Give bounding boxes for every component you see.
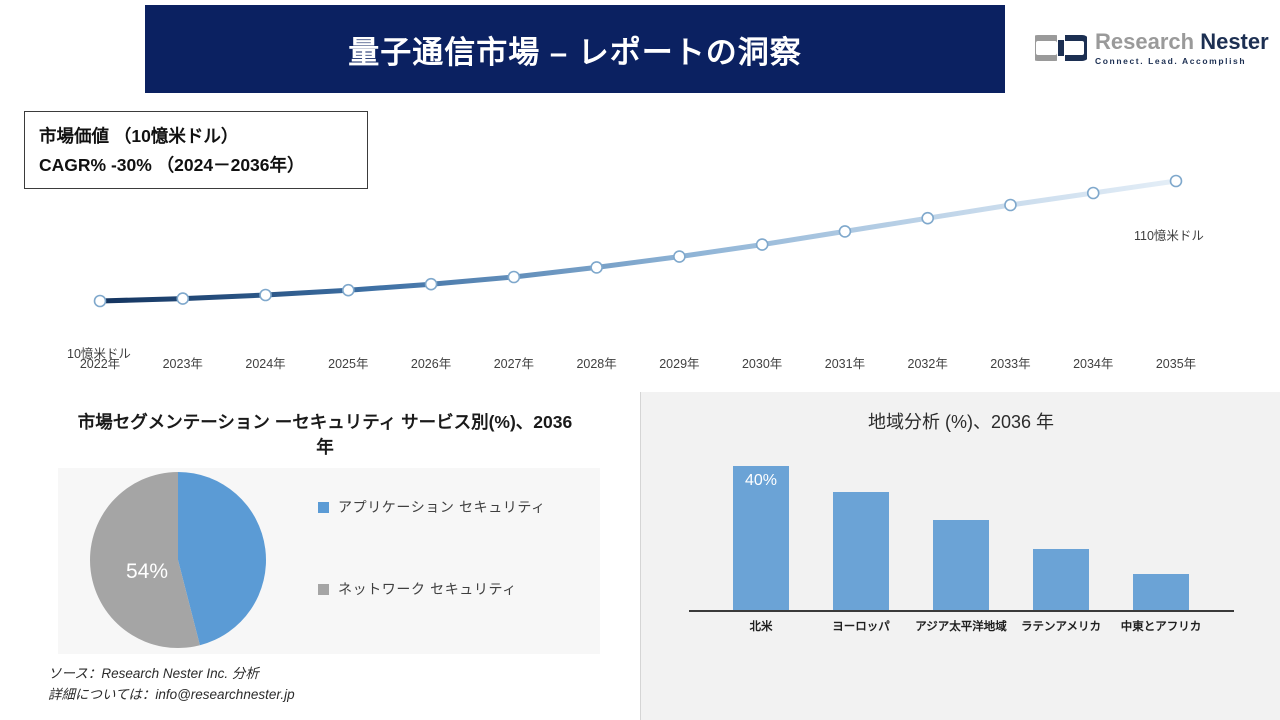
- x-axis-tick-2035年: 2035年: [1156, 353, 1196, 372]
- line-marker: [674, 251, 685, 262]
- logo-name: Research Nester: [1095, 31, 1269, 53]
- bar-category-中東とアフリカ: 中東とアフリカ: [1121, 618, 1202, 634]
- x-axis-tick-2024年: 2024年: [245, 353, 285, 372]
- x-axis-tick-2025年: 2025年: [328, 353, 368, 372]
- bar-category-アジア太平洋地域: アジア太平洋地域: [915, 618, 1007, 634]
- line-marker: [508, 272, 519, 283]
- interlocking-links-icon: [1035, 31, 1087, 65]
- line-marker: [260, 290, 271, 301]
- line-chart-x-axis: 2022年2023年2024年2025年2026年2027年2028年2029年…: [0, 353, 1280, 379]
- x-axis-tick-2026年: 2026年: [411, 353, 451, 372]
- market-value-info-box: 市場価値 （10憶米ドル） CAGR% -30% （2024－2036年）: [24, 111, 368, 189]
- line-marker: [757, 239, 768, 250]
- x-axis-tick-2033年: 2033年: [990, 353, 1030, 372]
- legend-item-application-security: アプリケーション セキュリティ: [318, 497, 546, 517]
- pie-legend: アプリケーション セキュリティ ネットワーク セキュリティ: [318, 497, 546, 599]
- logo-wordmark: Research Nester Connect. Lead. Accomplis…: [1095, 31, 1269, 66]
- bar-value-label: 40%: [745, 472, 777, 490]
- legend-label-application-security: アプリケーション セキュリティ: [338, 497, 546, 517]
- pie-chart-title: 市場セグメンテーション ーセキュリティ サービス別(%)、2036年: [70, 410, 580, 461]
- source-line-2: 詳細については：info@researchnester.jp: [48, 685, 295, 706]
- bar-chart-plot: 40%: [711, 452, 1211, 610]
- line-marker: [1088, 188, 1099, 199]
- logo-name-research: Research: [1095, 29, 1194, 54]
- pie-slice-label-network: 54%: [126, 560, 168, 584]
- page-header: 量子通信市場 – レポートの洞察 Research Nester Connect…: [0, 0, 1280, 95]
- bar-category-ヨーロッパ: ヨーロッパ: [832, 618, 890, 634]
- x-axis-tick-2032年: 2032年: [908, 353, 948, 372]
- regional-analysis-bar-panel: 地域分析 (%)、2036 年 40% 北米ヨーロッパアジア太平洋地域ラテンアメ…: [640, 392, 1280, 720]
- bar-ラテンアメリカ: [1033, 549, 1089, 610]
- brand-logo: Research Nester Connect. Lead. Accomplis…: [1035, 22, 1260, 74]
- source-footnote: ソース：Research Nester Inc. 分析 詳細については：info…: [48, 664, 295, 706]
- logo-tagline: Connect. Lead. Accomplish: [1095, 57, 1269, 66]
- x-axis-tick-2023年: 2023年: [163, 353, 203, 372]
- bar-category-北米: 北米: [750, 618, 773, 634]
- line-marker: [95, 296, 106, 307]
- legend-item-network-security: ネットワーク セキュリティ: [318, 579, 546, 599]
- pie-chart-svg: [88, 470, 268, 650]
- line-marker: [426, 279, 437, 290]
- title-banner: 量子通信市場 – レポートの洞察: [145, 5, 1005, 93]
- info-box-line-2: CAGR% -30% （2024－2036年）: [39, 151, 353, 180]
- x-axis-tick-2031年: 2031年: [825, 353, 865, 372]
- segmentation-pie-panel: 市場セグメンテーション ーセキュリティ サービス別(%)、2036年 アプリケー…: [0, 392, 640, 720]
- x-axis-tick-2028年: 2028年: [576, 353, 616, 372]
- line-marker: [922, 213, 933, 224]
- bar-category-ラテンアメリカ: ラテンアメリカ: [1021, 618, 1101, 634]
- legend-swatch-blue-icon: [318, 502, 329, 513]
- info-box-line-1: 市場価値 （10憶米ドル）: [39, 122, 353, 151]
- bar-chart-axis-line: [689, 610, 1234, 612]
- line-marker: [177, 293, 188, 304]
- bar-chart-x-axis: 北米ヨーロッパアジア太平洋地域ラテンアメリカ中東とアフリカ: [711, 618, 1211, 640]
- market-value-line-chart: 市場価値 （10憶米ドル） CAGR% -30% （2024－2036年） 10…: [0, 95, 1280, 390]
- bar-ヨーロッパ: [833, 492, 889, 611]
- legend-swatch-gray-icon: [318, 584, 329, 595]
- bar-中東とアフリカ: [1133, 574, 1189, 610]
- line-marker: [343, 285, 354, 296]
- legend-label-network-security: ネットワーク セキュリティ: [338, 579, 517, 599]
- line-marker: [1005, 200, 1016, 211]
- x-axis-tick-2030年: 2030年: [742, 353, 782, 372]
- x-axis-tick-2027年: 2027年: [494, 353, 534, 372]
- line-marker: [591, 262, 602, 273]
- page-title: 量子通信市場 – レポートの洞察: [348, 27, 801, 72]
- x-axis-tick-2034年: 2034年: [1073, 353, 1113, 372]
- line-marker: [1171, 176, 1182, 187]
- logo-name-nester: Nester: [1200, 29, 1268, 54]
- bar-アジア太平洋地域: [933, 520, 989, 610]
- line-marker: [839, 226, 850, 237]
- x-axis-tick-2029年: 2029年: [659, 353, 699, 372]
- source-line-1: ソース：Research Nester Inc. 分析: [48, 664, 295, 685]
- bar-chart-title: 地域分析 (%)、2036 年: [641, 408, 1280, 434]
- bar-北米: 40%: [733, 466, 789, 610]
- x-axis-tick-2022年: 2022年: [80, 353, 120, 372]
